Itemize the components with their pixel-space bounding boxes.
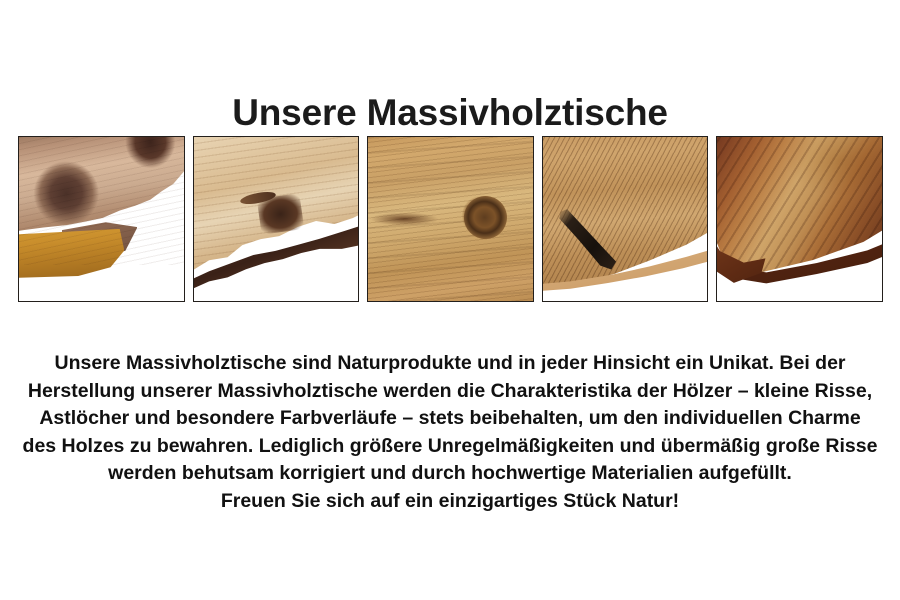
gallery-photo-1[interactable] <box>18 136 185 302</box>
description-closing: Freuen Sie sich auf ein einzigartiges St… <box>22 488 878 516</box>
description-block: Unsere Massivholztische sind Naturproduk… <box>22 350 878 515</box>
photo-gallery <box>18 136 883 302</box>
gallery-photo-2[interactable] <box>193 136 360 302</box>
wood-grain-knot-icon <box>368 137 533 301</box>
live-edge-board-icon <box>194 137 359 301</box>
gallery-photo-3[interactable] <box>367 136 534 302</box>
product-info-banner: Unsere Massivholztische <box>0 0 900 600</box>
wood-slab-burl-edge-icon <box>19 137 184 301</box>
rough-sawn-crack-icon <box>543 137 708 301</box>
gallery-photo-5[interactable] <box>716 136 883 302</box>
sheesham-table-corner-icon <box>717 137 882 301</box>
page-title: Unsere Massivholztische <box>0 91 900 135</box>
description-paragraph: Unsere Massivholztische sind Naturproduk… <box>22 350 878 488</box>
gallery-photo-4[interactable] <box>542 136 709 302</box>
